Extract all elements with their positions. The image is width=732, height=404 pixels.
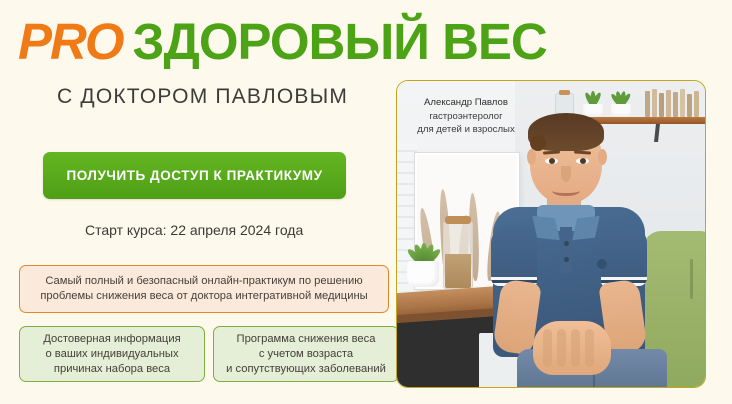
shirt-logo: [597, 259, 607, 269]
feature-box-1-line-2: о ваших индивидуальных: [43, 347, 180, 362]
shirt-placket: [560, 227, 572, 273]
nose: [561, 166, 571, 182]
doctor-name: Александр Павлов: [403, 96, 529, 110]
subtitle: С ДОКТОРОМ ПАВЛОВЫМ: [57, 85, 348, 109]
course-start-date: Старт курса: 22 апреля 2024 года: [85, 222, 303, 238]
hair: [528, 113, 604, 151]
doctor-audience: для детей и взрослых: [403, 123, 529, 137]
feature-box-2: Программа снижения веса с учетом возраст…: [213, 326, 399, 382]
feature-box-1: Достоверная информация о ваших индивидуа…: [19, 326, 205, 382]
headline-pro: PRO: [18, 13, 123, 70]
get-access-button[interactable]: ПОЛУЧИТЬ ДОСТУП К ПРАКТИКУМУ: [43, 152, 346, 199]
feature-box-2-line-2: с учетом возраста: [226, 347, 386, 362]
ear-left: [527, 149, 536, 165]
doctor-role: гастроэнтеролог: [403, 110, 529, 124]
headline-rest: ЗДОРОВЫЙ ВЕС: [133, 13, 547, 70]
promo-banner: PROЗДОРОВЫЙ ВЕС С ДОКТОРОМ ПАВЛОВЫМ ПОЛУ…: [0, 0, 732, 404]
doctor-caption: Александр Павлов гастроэнтеролог для дет…: [403, 96, 529, 137]
doctor-photo: Александр Павлов гастроэнтеролог для дет…: [397, 81, 705, 387]
mouth: [552, 185, 580, 196]
feature-box-2-line-3: и сопутствующих заболеваний: [226, 362, 386, 377]
feature-box-1-line-1: Достоверная информация: [43, 332, 180, 347]
feature-box-1-line-3: причинах набора веса: [43, 362, 180, 377]
doctor-photo-card: Александр Павлов гастроэнтеролог для дет…: [396, 80, 706, 388]
highlight-box-line-2: проблемы снижения веса от доктора интегр…: [40, 289, 367, 304]
eye-left: [545, 158, 558, 164]
ear-right: [598, 149, 607, 165]
shirt-button-top: [564, 241, 569, 246]
clasped-hands: [533, 321, 611, 375]
feature-box-2-line-1: Программа снижения веса: [226, 332, 386, 347]
shirt-button-bottom: [564, 257, 569, 262]
eye-right: [576, 158, 589, 164]
highlight-box: Самый полный и безопасный онлайн-практик…: [19, 265, 389, 313]
page-title: PROЗДОРОВЫЙ ВЕС: [18, 14, 718, 70]
highlight-box-line-1: Самый полный и безопасный онлайн-практик…: [40, 274, 367, 289]
